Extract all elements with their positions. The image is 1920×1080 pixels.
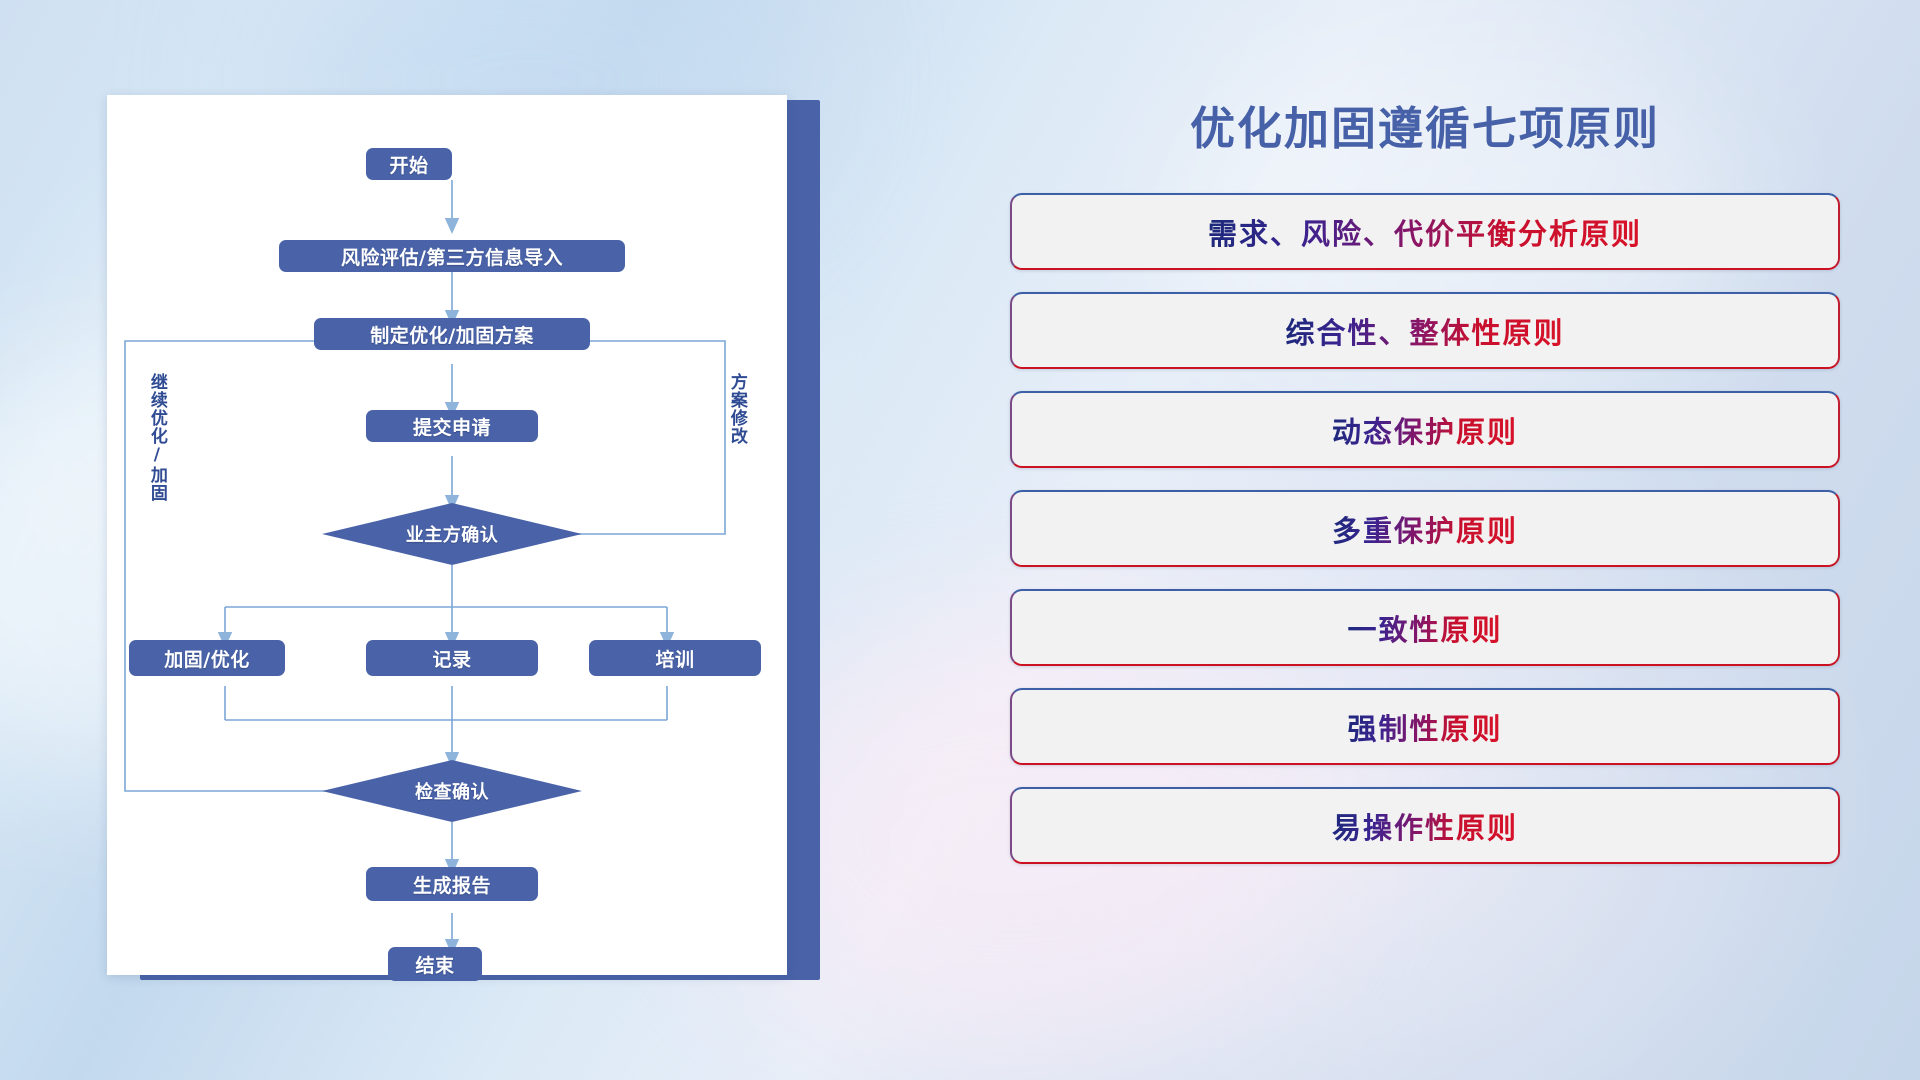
flow-node-label: 开始	[389, 151, 428, 178]
principle-item[interactable]: 综合性、整体性原则	[1010, 292, 1840, 369]
flow-node-label: 提交申请	[413, 413, 491, 440]
flowchart-canvas: 开始 风险评估/第三方信息导入 制定优化/加固方案 提交申请 业主方确认 加固/…	[107, 95, 787, 975]
principle-label: 动态保护原则	[1332, 409, 1518, 451]
principle-item[interactable]: 动态保护原则	[1010, 391, 1840, 468]
flow-node-label: 业主方确认	[406, 521, 499, 547]
flow-node-start[interactable]: 开始	[366, 148, 452, 180]
flow-node-training[interactable]: 培训	[589, 640, 761, 676]
flow-node-plan[interactable]: 制定优化/加固方案	[314, 318, 590, 350]
flow-node-label: 制定优化/加固方案	[370, 321, 533, 348]
flow-node-label: 风险评估/第三方信息导入	[341, 243, 563, 270]
principles-panel: 优化加固遵循七项原则 需求、风险、代价平衡分析原则 综合性、整体性原则 动态保护…	[1010, 92, 1840, 992]
principle-item[interactable]: 强制性原则	[1010, 688, 1840, 765]
principle-label: 一致性原则	[1347, 607, 1502, 649]
flow-node-label: 检查确认	[415, 778, 489, 804]
principle-label: 需求、风险、代价平衡分析原则	[1208, 211, 1642, 253]
principle-label: 易操作性原则	[1332, 805, 1518, 847]
principle-item[interactable]: 一致性原则	[1010, 589, 1840, 666]
flow-node-risk-assessment[interactable]: 风险评估/第三方信息导入	[279, 240, 625, 272]
flow-node-label: 加固/优化	[164, 645, 249, 672]
flow-node-label: 记录	[432, 645, 471, 672]
flow-node-label: 结束	[415, 951, 454, 978]
flow-node-report[interactable]: 生成报告	[366, 867, 538, 901]
flow-node-reinforce[interactable]: 加固/优化	[129, 640, 285, 676]
flowchart-card: 开始 风险评估/第三方信息导入 制定优化/加固方案 提交申请 业主方确认 加固/…	[107, 95, 787, 975]
principle-item[interactable]: 多重保护原则	[1010, 490, 1840, 567]
flow-label-continue-optimize: 继续优化/加固	[147, 373, 165, 502]
principle-item[interactable]: 需求、风险、代价平衡分析原则	[1010, 193, 1840, 270]
flow-node-submit[interactable]: 提交申请	[366, 410, 538, 442]
page-title: 优化加固遵循七项原则	[1010, 92, 1840, 157]
flow-node-check-confirm[interactable]: 检查确认	[322, 760, 582, 822]
flow-node-label: 生成报告	[413, 871, 491, 898]
flow-node-label: 培训	[655, 645, 694, 672]
principle-label: 综合性、整体性原则	[1285, 310, 1564, 352]
principle-item[interactable]: 易操作性原则	[1010, 787, 1840, 864]
principle-label: 多重保护原则	[1332, 508, 1518, 550]
flow-node-end[interactable]: 结束	[388, 947, 482, 981]
principle-label: 强制性原则	[1347, 706, 1502, 748]
principles-list: 需求、风险、代价平衡分析原则 综合性、整体性原则 动态保护原则 多重保护原则 一…	[1010, 193, 1840, 864]
flow-node-owner-confirm[interactable]: 业主方确认	[322, 503, 582, 565]
flow-node-record[interactable]: 记录	[366, 640, 538, 676]
flow-label-plan-revision: 方案修改	[727, 373, 745, 445]
